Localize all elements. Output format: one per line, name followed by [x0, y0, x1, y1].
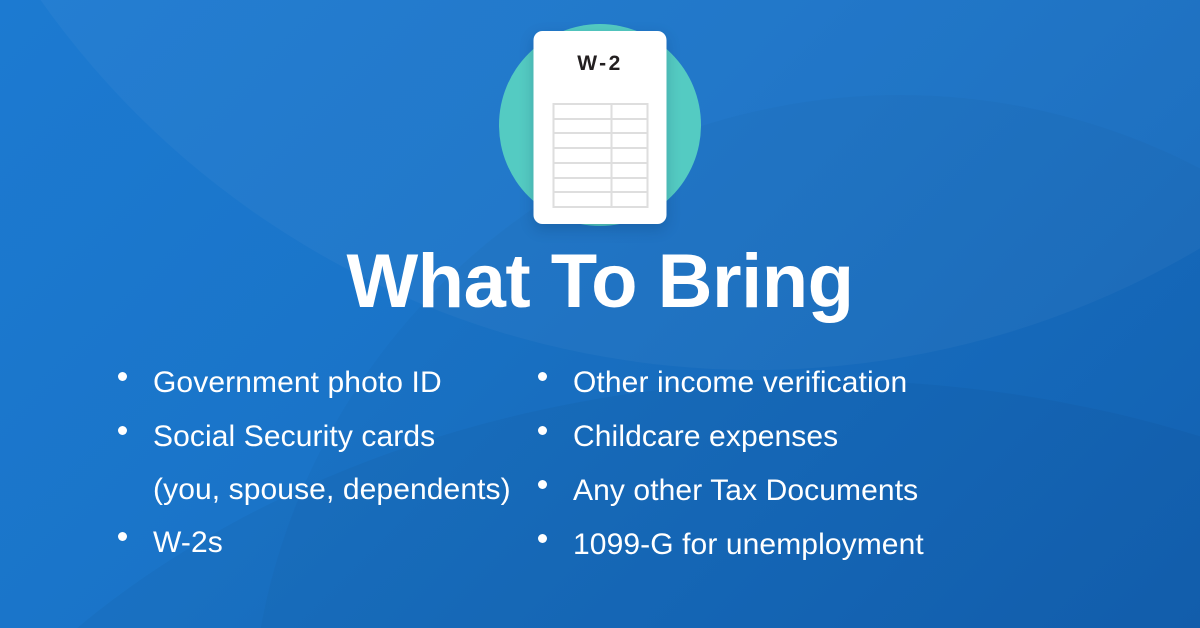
bullet-dot-icon	[538, 534, 547, 543]
w2-table-cell-narrow	[612, 193, 646, 206]
list-item-label: W-2s	[153, 516, 223, 569]
list-item: Childcare expenses	[538, 410, 1120, 464]
w2-table-cell-wide	[555, 193, 613, 206]
list-item: W-2s	[118, 516, 520, 570]
w2-table-cell-narrow	[612, 105, 646, 118]
w2-table-cell-wide	[555, 105, 613, 118]
w2-table-row	[555, 105, 647, 120]
w2-table-row	[555, 134, 647, 149]
bullet-dot-icon	[538, 426, 547, 435]
requirements-lists: Government photo ID Social Security card…	[0, 356, 1200, 572]
list-item-label: 1099-G for unemployment	[573, 518, 924, 571]
w2-table-row	[555, 193, 647, 206]
w2-table-cell-wide	[555, 149, 613, 162]
list-item-label: Social Security cards (you, spouse, depe…	[153, 410, 511, 516]
w2-table-cell-narrow	[612, 120, 646, 133]
w2-document-icon: W-2	[534, 31, 667, 224]
list-item: Other income verification	[538, 356, 1120, 410]
w2-table-row	[555, 149, 647, 164]
list-column-right: Other income verification Childcare expe…	[520, 356, 1120, 572]
w2-table-row	[555, 164, 647, 179]
list-item-label: Any other Tax Documents	[573, 464, 918, 517]
bullet-dot-icon	[118, 426, 127, 435]
poster-canvas: W-2 What To Bring Government photo ID So…	[0, 0, 1200, 628]
hero-illustration: W-2	[0, 0, 1200, 232]
bullet-dot-icon	[538, 480, 547, 489]
list-column-left: Government photo ID Social Security card…	[0, 356, 520, 572]
w2-table-cell-wide	[555, 179, 613, 192]
list-item: 1099-G for unemployment	[538, 518, 1120, 572]
bullet-dot-icon	[538, 372, 547, 381]
list-item-label: Other income verification	[573, 356, 907, 409]
w2-table-cell-wide	[555, 164, 613, 177]
w2-table-cell-narrow	[612, 164, 646, 177]
w2-table-cell-narrow	[612, 149, 646, 162]
w2-table-graphic	[553, 103, 649, 208]
bullet-dot-icon	[118, 532, 127, 541]
page-title: What To Bring	[0, 244, 1200, 320]
list-item: Any other Tax Documents	[538, 464, 1120, 518]
w2-table-row	[555, 120, 647, 135]
bullet-dot-icon	[118, 372, 127, 381]
list-item: Government photo ID	[118, 356, 520, 410]
w2-table-cell-wide	[555, 120, 613, 133]
list-item: Social Security cards (you, spouse, depe…	[118, 410, 520, 516]
w2-label: W-2	[534, 53, 667, 74]
w2-table-cell-narrow	[612, 179, 646, 192]
list-item-label: Government photo ID	[153, 356, 442, 409]
w2-table-cell-narrow	[612, 134, 646, 147]
w2-table-row	[555, 179, 647, 194]
list-item-label: Childcare expenses	[573, 410, 838, 463]
w2-table-cell-wide	[555, 134, 613, 147]
